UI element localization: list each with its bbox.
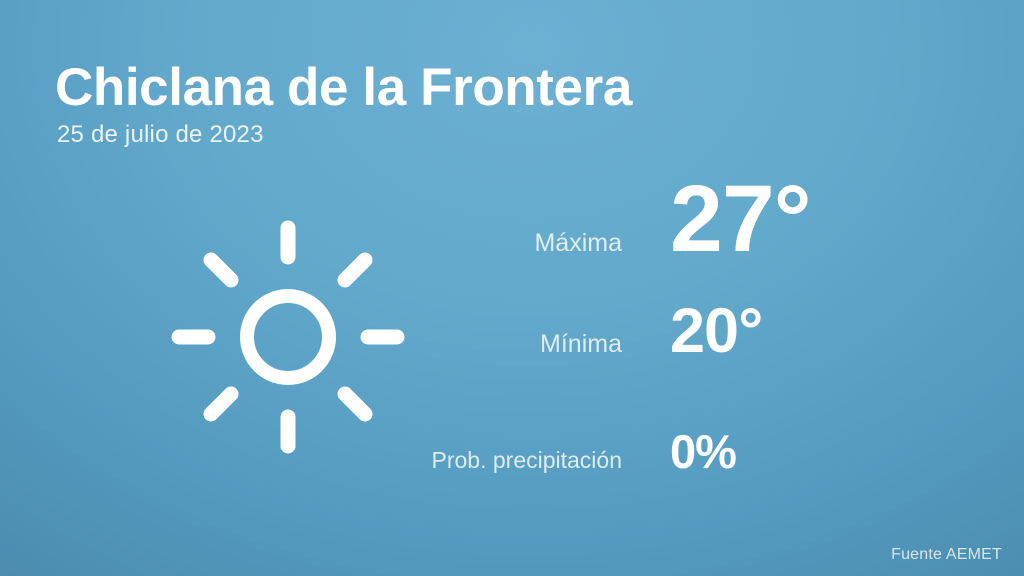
stats-list: Máxima 27° Mínima 20° Prob. precipitació… bbox=[430, 172, 950, 498]
stat-label-minima: Mínima bbox=[430, 330, 670, 359]
stat-row-maxima: Máxima 27° bbox=[430, 172, 950, 300]
weather-icon-area bbox=[168, 217, 408, 457]
stat-row-precipitacion: Prob. precipitación 0% bbox=[430, 428, 950, 498]
page-title: Chiclana de la Frontera bbox=[55, 58, 632, 117]
stat-label-maxima: Máxima bbox=[430, 229, 670, 258]
forecast-date: 25 de julio de 2023 bbox=[57, 121, 632, 150]
stat-label-precipitacion: Prob. precipitación bbox=[430, 447, 670, 474]
sun-icon bbox=[168, 217, 408, 457]
data-source-attribution: Fuente AEMET bbox=[891, 546, 1002, 564]
stat-row-minima: Mínima 20° bbox=[430, 300, 950, 428]
card-header: Chiclana de la Frontera 25 de julio de 2… bbox=[55, 58, 632, 150]
stat-value-maxima: 27° bbox=[670, 172, 811, 267]
stat-value-minima: 20° bbox=[670, 300, 762, 363]
stat-value-precipitacion: 0% bbox=[670, 428, 736, 475]
weather-card: Chiclana de la Frontera 25 de julio de 2… bbox=[0, 0, 1024, 576]
